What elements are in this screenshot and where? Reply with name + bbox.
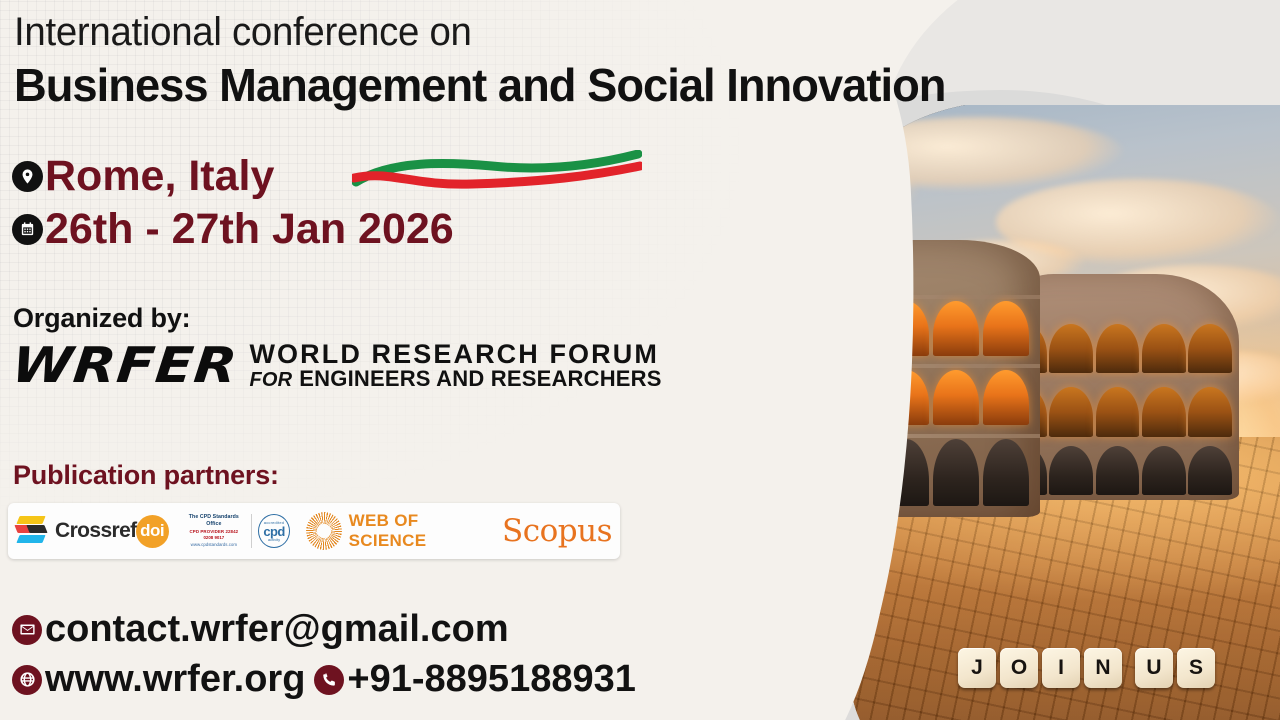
scopus-wordmark: Scopus <box>502 513 612 549</box>
doi-badge: doi <box>136 515 169 548</box>
location-text: Rome, Italy <box>45 152 274 201</box>
join-us-tile: O <box>1000 648 1038 688</box>
cpd-accredited-seal-icon: accredited cpd activity <box>258 514 290 548</box>
email-text[interactable]: contact.wrfer@gmail.com <box>45 608 509 651</box>
wrfer-logotype: WRFER <box>9 341 240 390</box>
join-us-tiles: J O I N U S <box>958 648 1215 688</box>
italy-flag-ribbon-icon <box>352 150 642 198</box>
cpd-standards-logo: The CPD Standards Office CPD PROVIDER 22… <box>179 514 290 548</box>
organizer-line-2-row: FOR ENGINEERS AND RESEARCHERS <box>249 368 661 391</box>
poster-content: International conference on Business Man… <box>0 0 760 720</box>
email-line[interactable]: contact.wrfer@gmail.com <box>12 608 509 651</box>
web-of-science-wordmark: WEB OF SCIENCE <box>349 511 492 551</box>
phone-icon <box>314 665 344 695</box>
cpd-seal-bottom-text: activity <box>268 538 280 542</box>
date-text: 26th - 27th Jan 2026 <box>45 205 454 254</box>
organizer-line-1: WORLD RESEARCH FORUM <box>249 340 661 368</box>
cpd-text-block: The CPD Standards Office CPD PROVIDER 22… <box>183 514 246 548</box>
web-of-science-logo: WEB OF SCIENCE <box>300 511 492 551</box>
cpd-divider <box>251 514 252 548</box>
globe-icon <box>12 665 42 695</box>
organizer-for-word: FOR <box>249 370 292 391</box>
crossref-wordmark: Crossref <box>55 519 137 543</box>
calendar-icon <box>12 214 43 245</box>
cpd-website: www.cpdstandards.com <box>183 542 246 548</box>
publication-partners-strip: Crossref doi The CPD Standards Office CP… <box>8 503 620 559</box>
crossref-mark-icon <box>16 514 50 548</box>
join-us-tile: S <box>1177 648 1215 688</box>
website-phone-line[interactable]: www.wrfer.org +91-8895188931 <box>12 658 636 701</box>
organized-by-label: Organized by: <box>13 303 190 334</box>
join-us-tile: U <box>1135 648 1173 688</box>
location-pin-icon <box>12 161 43 192</box>
web-of-science-mark-icon <box>306 512 342 550</box>
envelope-icon <box>12 615 42 645</box>
crossref-logo: Crossref doi <box>16 514 169 548</box>
join-us-tile: N <box>1084 648 1122 688</box>
organizer-line-2: ENGINEERS AND RESEARCHERS <box>299 368 661 391</box>
conference-title: Business Management and Social Innovatio… <box>14 62 945 108</box>
conference-subtitle: International conference on <box>14 12 472 52</box>
website-text[interactable]: www.wrfer.org <box>45 658 305 701</box>
join-us-tile: J <box>958 648 996 688</box>
date-line: 26th - 27th Jan 2026 <box>12 205 454 254</box>
phone-text[interactable]: +91-8895188931 <box>347 658 635 701</box>
join-us-tile: I <box>1042 648 1080 688</box>
organizer-logo: WRFER WORLD RESEARCH FORUM FOR ENGINEERS… <box>12 340 662 391</box>
organizer-name-block: WORLD RESEARCH FORUM FOR ENGINEERS AND R… <box>249 340 661 391</box>
conference-poster: International conference on Business Man… <box>0 0 1280 720</box>
cpd-seal-mid-text: cpd <box>263 525 284 538</box>
cpd-office-name: The CPD Standards Office <box>183 514 246 529</box>
publication-partners-label: Publication partners: <box>13 460 279 491</box>
location-line: Rome, Italy <box>12 152 274 201</box>
